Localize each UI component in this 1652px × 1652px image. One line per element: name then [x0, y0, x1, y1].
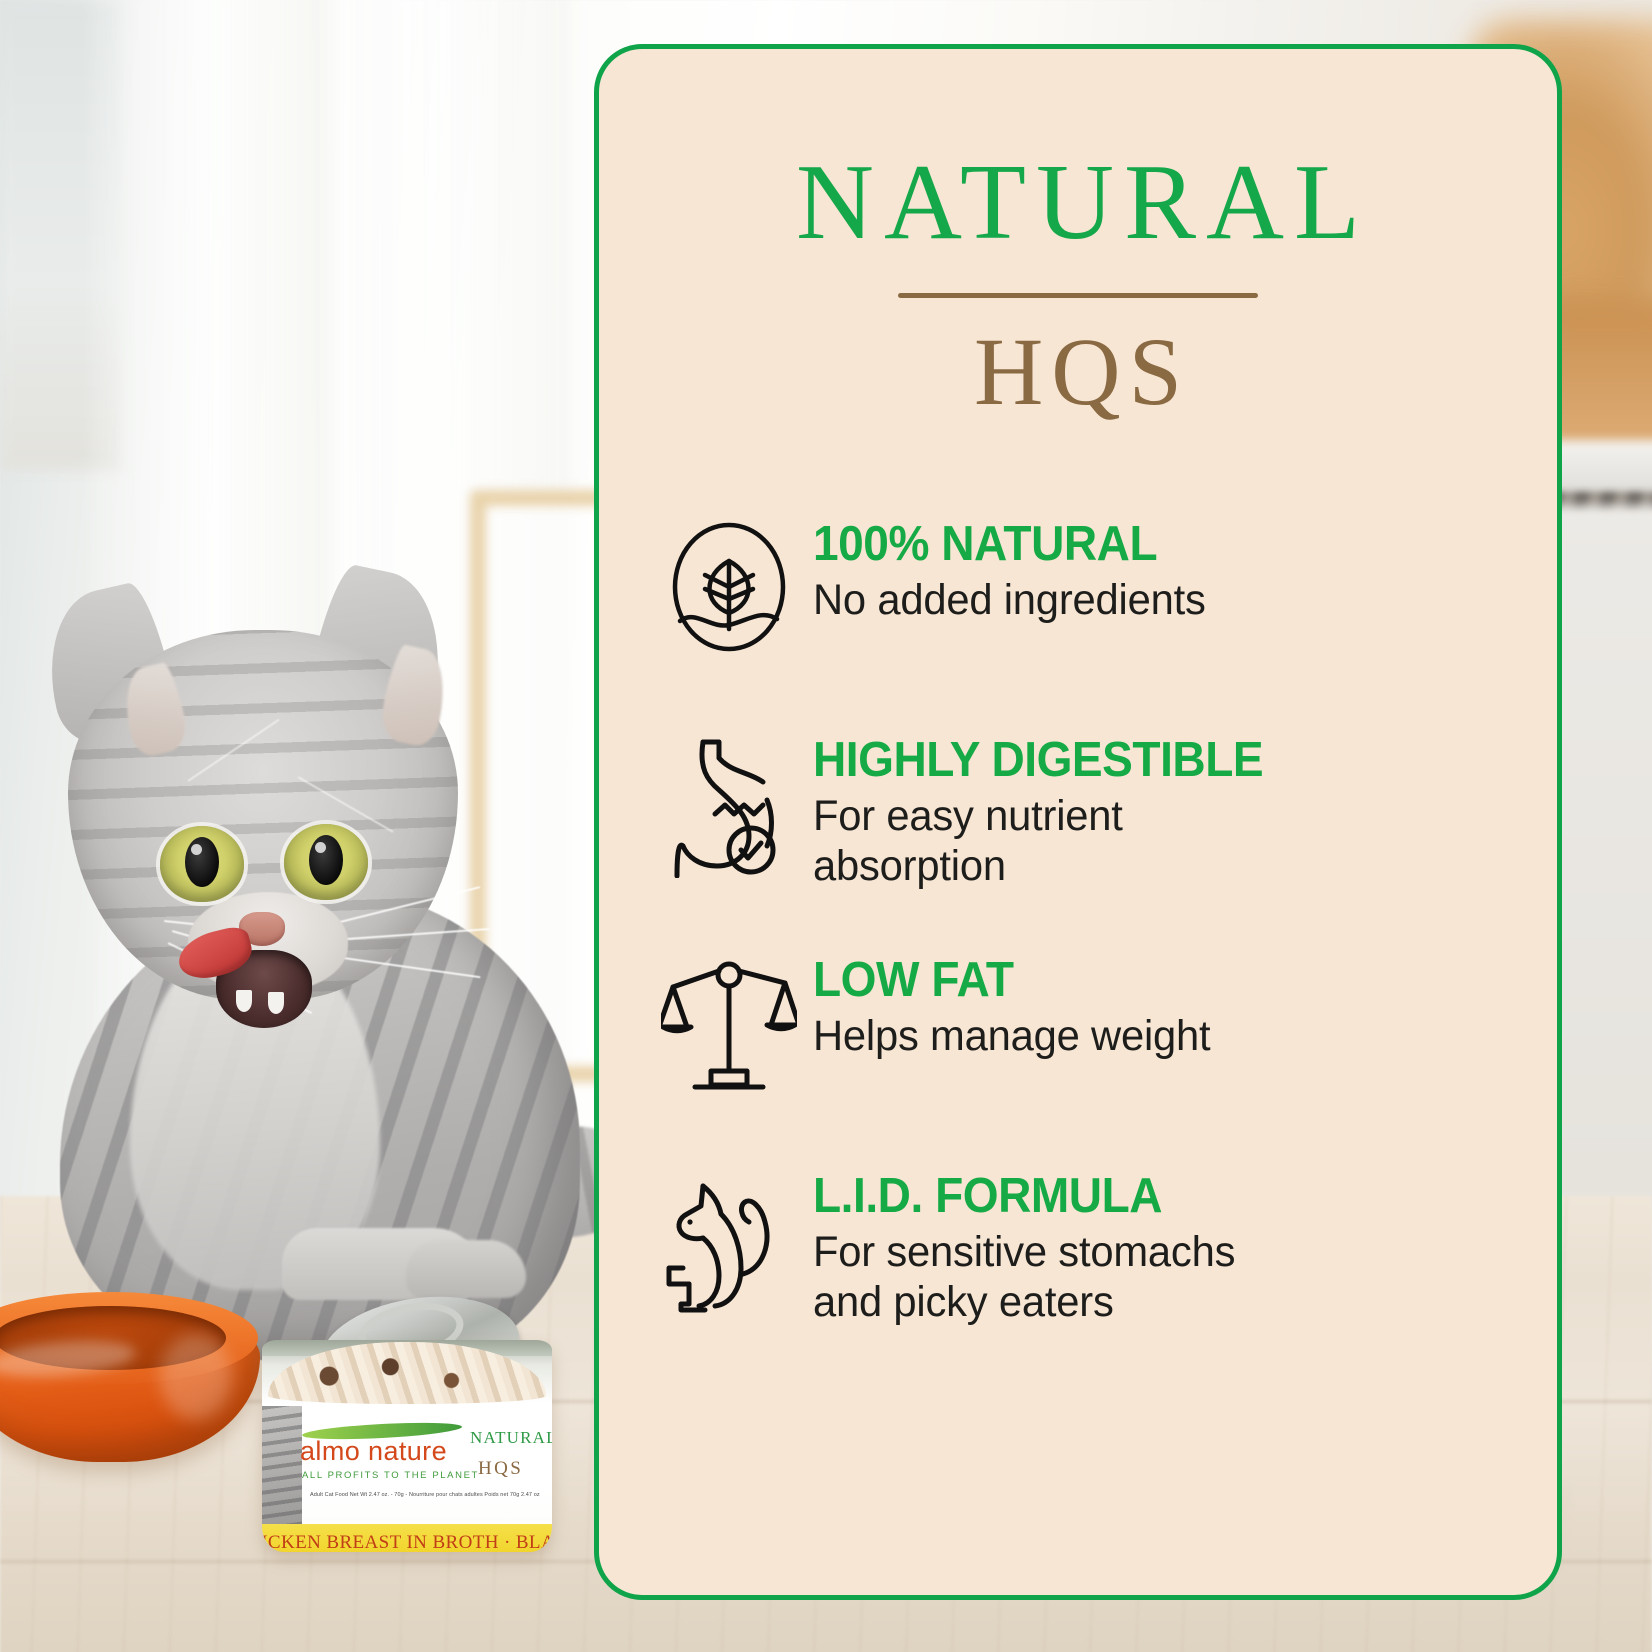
can-flavour-band: CHICKEN BREAST IN BROTH · BLANC DE POULE…: [262, 1524, 552, 1552]
can-flavour-text: CHICKEN BREAST IN BROTH · BLANC DE POULE…: [262, 1532, 552, 1552]
brand-title-block: NATURAL HQS: [599, 49, 1557, 420]
feature-heading: L.I.D. FORMULA: [813, 1172, 1471, 1222]
leaf-in-circle-icon: [645, 512, 813, 662]
cat-photo: [20, 600, 620, 1360]
sitting-cat-icon: [645, 1164, 813, 1314]
stomach-check-icon: [645, 728, 813, 878]
cat-whisker: [298, 776, 394, 833]
product-can: almo nature ALL PROFITS TO THE PLANET NA…: [262, 1300, 552, 1560]
feature-subtext: For easy nutrient absorption: [813, 792, 1492, 892]
feature-row-lowfat: LOW FAT Helps manage weight: [599, 948, 1557, 1108]
title-natural: NATURAL: [599, 149, 1557, 257]
cat-tooth: [236, 990, 252, 1012]
bowl-highlight: [160, 1334, 232, 1420]
product-marketing-image: almo nature ALL PROFITS TO THE PLANET NA…: [0, 0, 1652, 1652]
cat-front-paw: [406, 1240, 526, 1298]
title-divider: [898, 293, 1258, 298]
feature-subtext: No added ingredients: [813, 576, 1492, 626]
can-brand-name: almo nature: [300, 1436, 470, 1467]
feature-text-lid: L.I.D. FORMULA For sensitive stomachs an…: [813, 1164, 1513, 1328]
feature-text-lowfat: LOW FAT Helps manage weight: [813, 948, 1513, 1062]
can-label-cat-photo: [262, 1406, 302, 1524]
can-range-hqs: HQS: [478, 1458, 523, 1480]
cat-eye-left: [160, 826, 244, 902]
cat-tooth: [268, 992, 284, 1014]
orange-food-bowl: [0, 1268, 280, 1468]
features-panel: NATURAL HQS 100% NATURAL No: [594, 44, 1562, 1600]
can-label: almo nature ALL PROFITS TO THE PLANET NA…: [262, 1406, 552, 1524]
feature-subtext: Helps manage weight: [813, 1012, 1492, 1062]
feature-heading: HIGHLY DIGESTIBLE: [813, 736, 1471, 786]
feature-row-digestible: HIGHLY DIGESTIBLE For easy nutrient abso…: [599, 728, 1557, 892]
title-hqs: HQS: [599, 324, 1557, 420]
cat-pupil: [185, 837, 219, 887]
can-body: almo nature ALL PROFITS TO THE PLANET NA…: [262, 1340, 552, 1552]
feature-subtext: For sensitive stomachs and picky eaters: [813, 1228, 1492, 1328]
cat-eye-right: [284, 824, 368, 900]
feature-row-lid: L.I.D. FORMULA For sensitive stomachs an…: [599, 1164, 1557, 1328]
cat-whisker: [187, 719, 279, 782]
can-range-natural: NATURAL: [470, 1428, 552, 1448]
feature-heading: 100% NATURAL: [813, 520, 1471, 570]
cat-ear-inner-left: [117, 661, 191, 759]
feature-text-natural: 100% NATURAL No added ingredients: [813, 512, 1513, 626]
feature-heading: LOW FAT: [813, 956, 1471, 1006]
feature-text-digestible: HIGHLY DIGESTIBLE For easy nutrient abso…: [813, 728, 1513, 892]
can-tagline: ALL PROFITS TO THE PLANET: [302, 1470, 482, 1481]
cat-head: [68, 630, 458, 1000]
can-fine-print: Adult Cat Food Net Wt 2.47 oz. - 70g - N…: [310, 1492, 510, 1498]
balance-scale-icon: [645, 948, 813, 1098]
feature-row-natural: 100% NATURAL No added ingredients: [599, 512, 1557, 672]
feature-list: 100% NATURAL No added ingredients: [599, 512, 1557, 1327]
cat-pupil: [309, 835, 343, 885]
